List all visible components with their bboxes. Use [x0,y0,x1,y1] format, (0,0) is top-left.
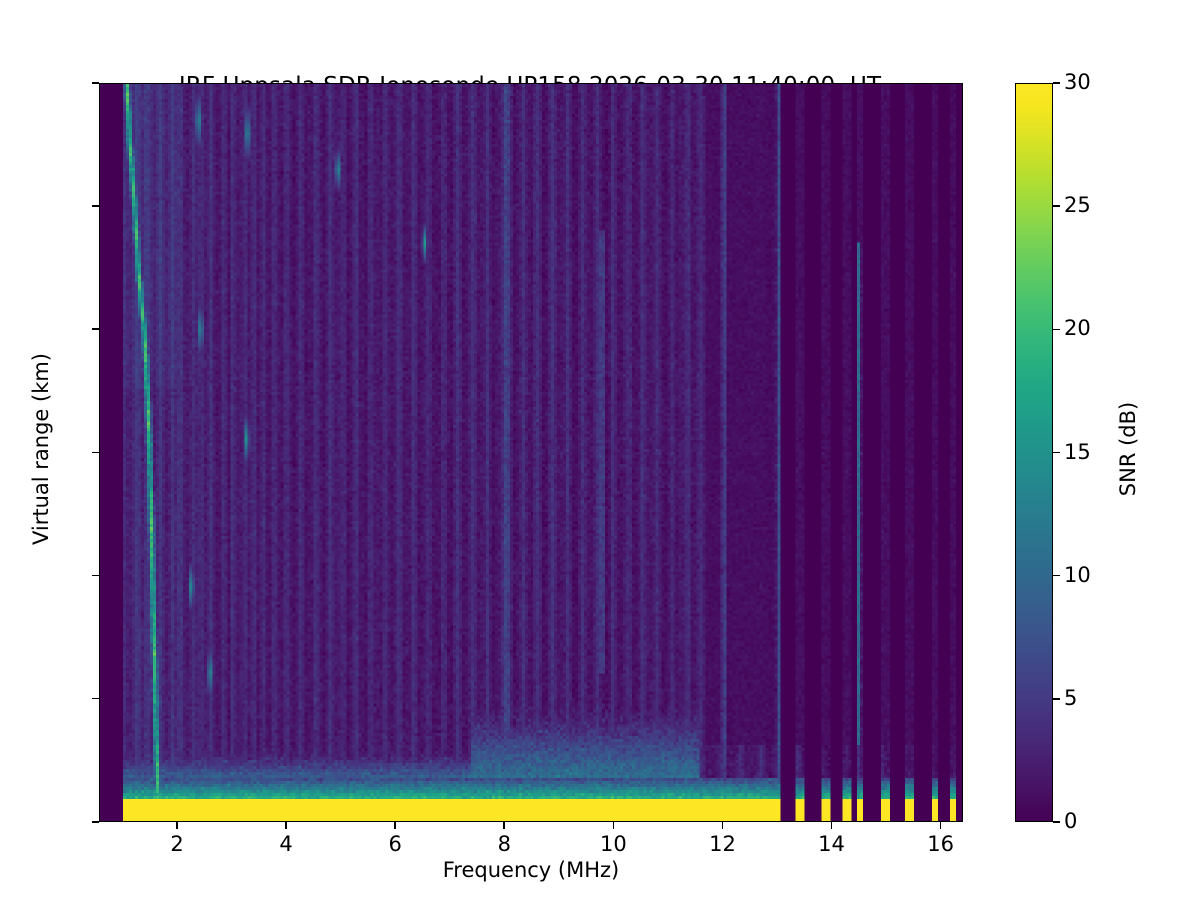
y-tick-mark [92,82,99,84]
y-tick-mark [92,698,99,700]
y-tick-mark [92,575,99,577]
colorbar-tick-mark [1053,575,1060,577]
y-tick-mark [92,328,99,330]
x-tick-mark [940,822,942,829]
x-tick-label: 2 [137,832,217,856]
y-tick-mark [92,821,99,823]
x-tick-mark [722,822,724,829]
colorbar-tick-label: 10 [1064,563,1091,587]
colorbar-tick-mark [1053,821,1060,823]
colorbar-label: SNR (dB) [1116,269,1140,629]
y-tick-mark [92,205,99,207]
colorbar-tick-mark [1053,452,1060,454]
x-tick-mark [503,822,505,829]
x-tick-label: 16 [901,832,981,856]
x-tick-mark [176,822,178,829]
x-tick-label: 4 [246,832,326,856]
x-tick-mark [831,822,833,829]
ionogram-heatmap [100,84,962,821]
colorbar [1015,83,1053,822]
colorbar-tick-mark [1053,205,1060,207]
colorbar-tick-mark [1053,329,1060,331]
colorbar-tick-label: 30 [1064,70,1091,94]
y-axis-label: Virtual range (km) [29,189,53,709]
x-tick-label: 12 [682,832,762,856]
x-tick-label: 8 [464,832,544,856]
colorbar-tick-mark [1053,82,1060,84]
colorbar-tick-label: 5 [1064,686,1077,710]
ionogram-axes [99,83,963,822]
x-axis-label: Frequency (MHz) [99,858,963,882]
ionogram-figure: IRF Uppsala SDR Ionosonde UP158 2026-03-… [0,0,1200,900]
x-tick-mark [285,822,287,829]
x-tick-label: 10 [573,832,653,856]
colorbar-gradient [1016,84,1052,821]
x-tick-label: 14 [792,832,872,856]
x-tick-mark [613,822,615,829]
y-tick-mark [92,452,99,454]
colorbar-tick-label: 20 [1064,316,1091,340]
colorbar-tick-mark [1053,698,1060,700]
colorbar-tick-label: 25 [1064,193,1091,217]
colorbar-tick-label: 15 [1064,440,1091,464]
colorbar-tick-label: 0 [1064,809,1077,833]
x-tick-label: 6 [355,832,435,856]
x-tick-mark [394,822,396,829]
